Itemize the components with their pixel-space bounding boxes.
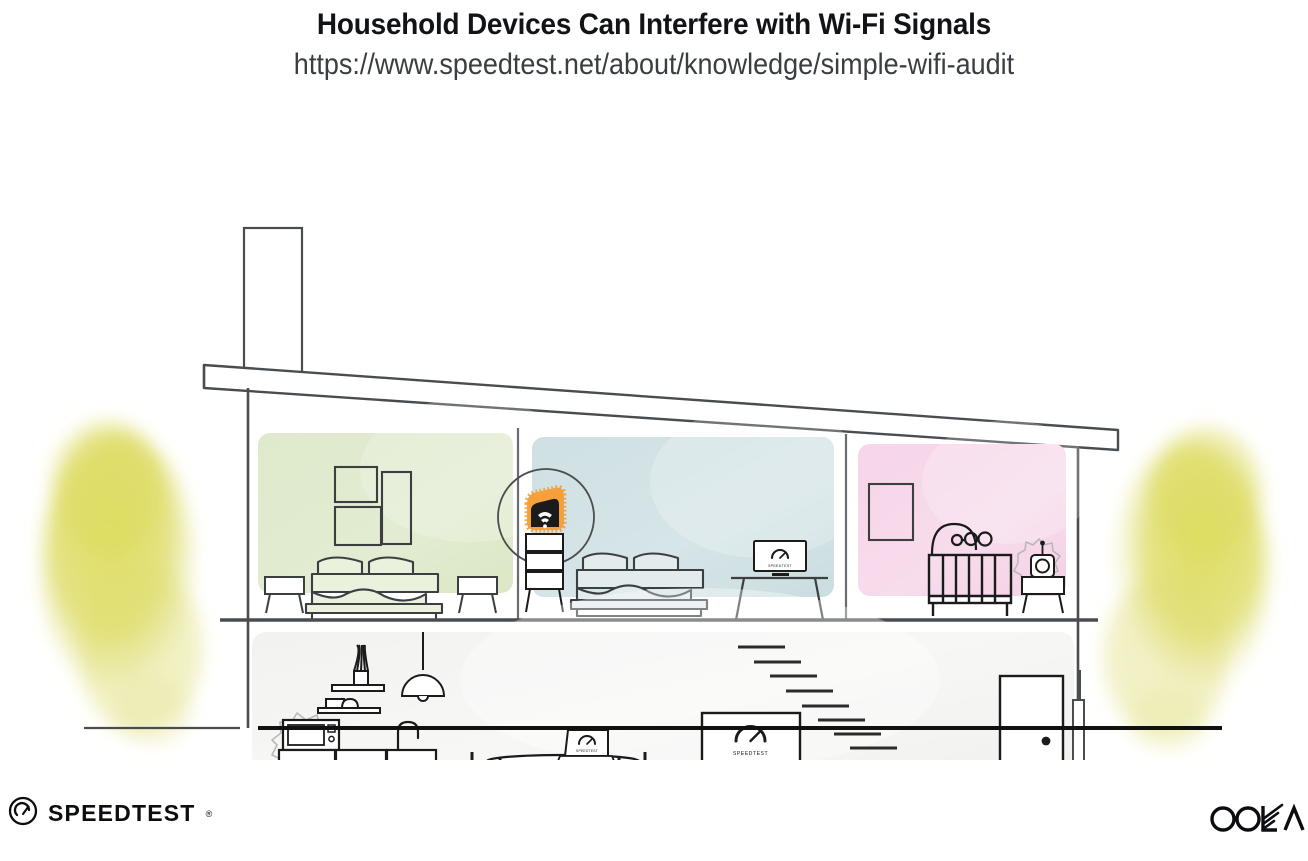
wifi-router[interactable] <box>527 488 564 530</box>
speedtest-wordmark: SPEEDTEST <box>48 800 196 827</box>
room-nursery-pink <box>858 420 1094 596</box>
front-door[interactable] <box>1000 676 1063 760</box>
monitor-screen-label: SPEEDTEST <box>768 564 793 568</box>
laptop-screen-label: SPEEDTEST <box>576 749 598 753</box>
television: SPEEDTEST <box>702 713 800 760</box>
source-url: https://www.speedtest.net/about/knowledg… <box>65 42 1242 82</box>
header: Household Devices Can Interfere with Wi-… <box>0 0 1308 105</box>
nightstand-green-right <box>458 577 497 613</box>
foliage-left <box>42 422 202 744</box>
microwave <box>283 720 339 750</box>
speedometer-icon <box>8 796 38 831</box>
desktop-monitor: SPEEDTEST <box>754 541 806 576</box>
footer: SPEEDTEST ® <box>0 780 1308 861</box>
chimney <box>244 228 302 388</box>
foliage-right <box>1104 428 1268 750</box>
ookla-wordmark <box>1212 808 1259 830</box>
house-cutaway-illustration: SPEEDTEST <box>0 100 1308 760</box>
ookla-chevron-icon <box>1263 805 1282 829</box>
kitchen-cabinets <box>279 750 436 760</box>
nightstand-green-left <box>265 577 304 613</box>
tv-screen-label: SPEEDTEST <box>733 751 769 757</box>
ookla-logo[interactable] <box>1205 800 1308 841</box>
page-title: Household Devices Can Interfere with Wi-… <box>46 0 1262 42</box>
door-knob-icon <box>1042 737 1051 746</box>
speedtest-registered-mark: ® <box>206 809 213 819</box>
infographic-canvas: Household Devices Can Interfere with Wi-… <box>0 0 1308 861</box>
speedtest-logo[interactable]: SPEEDTEST ® <box>8 796 212 831</box>
router-nightstand <box>526 534 563 612</box>
